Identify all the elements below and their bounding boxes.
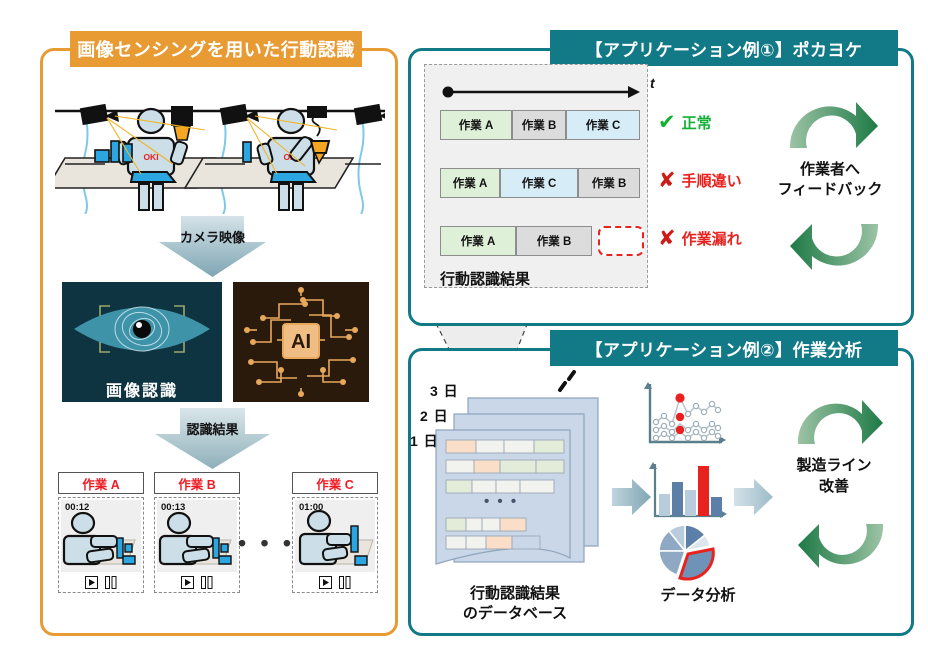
scatter-chart <box>640 380 728 457</box>
app1-title: 【アプリケーション例①】ポカヨケ <box>550 30 898 66</box>
feedback-loop-bottom-arrow <box>780 216 880 291</box>
clip-card-c[interactable]: 作業 C 01:00 <box>292 472 378 593</box>
clip-title-a: 作業 A <box>58 472 144 494</box>
cross-icon: ✘ <box>658 228 676 249</box>
workspace-illustration: OKI OKI <box>55 86 385 214</box>
verdict-label-3: 作業漏れ <box>682 228 742 249</box>
verdict-3: ✘ 作業漏れ <box>658 228 742 249</box>
segment: 作業 B <box>512 110 566 140</box>
diagram-canvas: 画像センシングを用いた行動認識 OKI <box>0 0 928 666</box>
improvement-line-1: 製造ライン <box>768 455 900 476</box>
recognition-result-heading: 行動認識結果 <box>440 268 530 289</box>
check-icon: ✔ <box>658 112 676 133</box>
clip-card-a[interactable]: 作業 A 00:12 <box>58 472 144 593</box>
analysis-label: データ分析 <box>628 584 768 605</box>
segment: 作業 A <box>440 226 516 256</box>
clip-cards: 作業 A 00:12 <box>58 472 378 608</box>
sequence-row-3: 作業 A 作業 B <box>440 226 644 256</box>
segment-missing <box>598 226 644 256</box>
verdict-label-1: 正常 <box>682 112 712 133</box>
segment: 作業 B <box>578 168 640 198</box>
pie-chart <box>645 524 729 591</box>
clip-controls-c[interactable] <box>295 574 375 590</box>
verdict-2: ✘ 手順違い <box>658 170 742 191</box>
camera-video-label: カメラ映像 <box>155 226 270 246</box>
clip-cards-ellipsis: • • • <box>238 530 295 557</box>
eye-icon <box>62 282 222 375</box>
recognition-result-label: 認識結果 <box>150 418 275 438</box>
clip-controls-a[interactable] <box>61 574 141 590</box>
pause-icon <box>105 576 117 589</box>
verdict-label-2: 手順違い <box>682 170 742 191</box>
improvement-label: 製造ライン 改善 <box>768 455 900 497</box>
feedback-label: 作業者へ フィードバック <box>762 160 898 201</box>
pause-icon <box>201 576 213 589</box>
clip-timecode-b: 00:13 <box>161 502 185 513</box>
clip-timecode-c: 01:00 <box>299 502 323 513</box>
segment: 作業 A <box>440 168 500 198</box>
pause-icon <box>339 576 351 589</box>
clip-title-c: 作業 C <box>292 472 378 494</box>
segment: 作業 C <box>566 110 640 140</box>
database-stack: • • • <box>418 394 608 584</box>
improvement-line-2: 改善 <box>768 476 900 497</box>
database-label-line-1: 行動認識結果 <box>420 584 610 604</box>
clip-title-b: 作業 B <box>154 472 240 494</box>
clip-thumbnail-c: 01:00 <box>295 500 375 572</box>
ai-label: AI <box>291 331 311 353</box>
improvement-loop-top-arrow <box>790 386 886 457</box>
left-panel-title: 画像センシングを用いた行動認識 <box>70 31 362 67</box>
database-ellipsis: • • • <box>484 493 518 510</box>
cross-icon: ✘ <box>658 170 676 191</box>
improvement-loop-bottom-arrow <box>790 516 886 587</box>
ai-brain-thumb: AI <box>233 282 369 400</box>
play-icon <box>85 576 98 589</box>
feedback-loop-top-arrow <box>780 86 880 161</box>
bar-chart <box>645 462 729 529</box>
clip-thumbnail-b: 00:13 <box>157 500 237 572</box>
time-axis-label: t <box>650 75 655 91</box>
feedback-line-2: フィードバック <box>762 180 898 200</box>
segment: 作業 B <box>516 226 592 256</box>
clip-card-b[interactable]: 作業 B 00:13 <box>154 472 240 593</box>
ai-chip-icon: AI <box>233 282 369 402</box>
clip-body-c: 01:00 <box>292 497 378 593</box>
image-recognition-caption: 画像認識 <box>62 375 222 402</box>
database-label-line-2: のデータベース <box>420 604 610 624</box>
recognition-thumbnails: 画像認識 <box>62 282 370 400</box>
app2-title: 【アプリケーション例②】作業分析 <box>550 330 898 366</box>
database-label: 行動認識結果 のデータベース <box>420 584 610 625</box>
clip-body-b: 00:13 <box>154 497 240 593</box>
play-icon <box>319 576 332 589</box>
segment: 作業 C <box>500 168 578 198</box>
play-icon <box>181 576 194 589</box>
clip-body-a: 00:12 <box>58 497 144 593</box>
scatter-highlight-points <box>675 393 684 434</box>
segment: 作業 A <box>440 110 512 140</box>
clip-controls-b[interactable] <box>157 574 237 590</box>
sequence-row-1: 作業 A 作業 B 作業 C <box>440 110 640 140</box>
bar-highlight <box>698 466 709 516</box>
sequence-row-2: 作業 A 作業 C 作業 B <box>440 168 640 198</box>
time-axis <box>442 84 642 100</box>
svg-text:OKI: OKI <box>143 152 158 162</box>
verdict-1: ✔ 正常 <box>658 112 712 133</box>
feedback-line-1: 作業者へ <box>762 160 898 180</box>
clip-thumbnail-a: 00:12 <box>61 500 141 572</box>
clip-timecode-a: 00:12 <box>65 502 89 513</box>
image-recognition-thumb: 画像認識 <box>62 282 222 400</box>
